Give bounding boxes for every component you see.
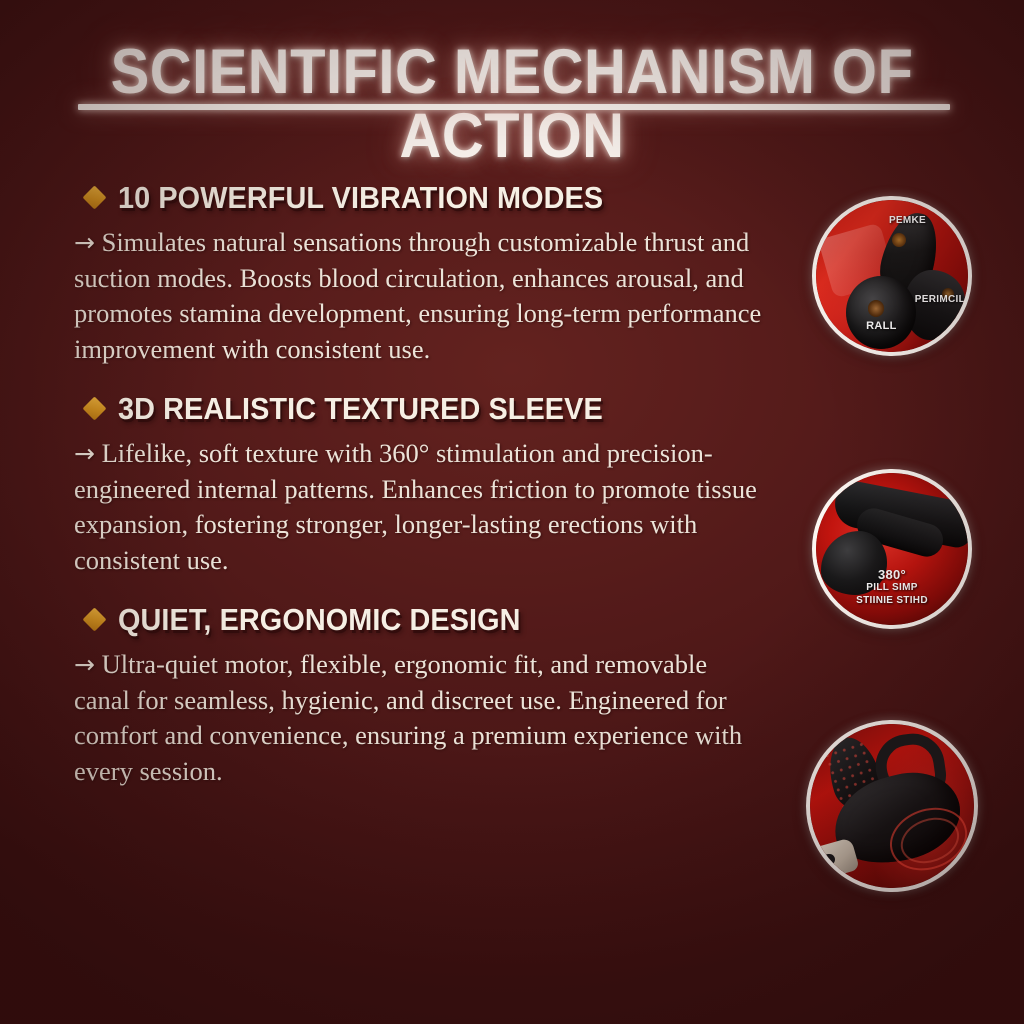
feature-title: 10 POWERFUL VIBRATION MODES [118, 182, 603, 213]
product-photo-textured-sleeve: 380° PILL SIMP STIINIE STIHD [812, 469, 972, 629]
photo-artwork: PEMKE RALL PERIMCIL [816, 200, 968, 352]
feature-item: 3D REALISTIC TEXTURED SLEEVE → Lifelike,… [74, 393, 764, 578]
diamond-icon [82, 185, 106, 209]
diamond-icon [82, 396, 106, 420]
feature-title: 3D REALISTIC TEXTURED SLEEVE [118, 393, 603, 424]
feature-heading: 3D REALISTIC TEXTURED SLEEVE [86, 393, 764, 424]
feature-heading: 10 POWERFUL VIBRATION MODES [86, 182, 764, 213]
product-photo-ergonomic-design [806, 720, 978, 892]
arrow-icon: → [74, 228, 95, 257]
feature-description: → Ultra-quiet motor, flexible, ergonomic… [74, 647, 764, 789]
feature-description: → Lifelike, soft texture with 360° stimu… [74, 436, 764, 578]
photo-shape [892, 233, 906, 247]
photo-artwork [810, 724, 974, 888]
arrow-icon: → [74, 439, 95, 468]
feature-heading: QUIET, ERGONOMIC DESIGN [86, 604, 764, 635]
diamond-icon [82, 607, 106, 631]
feature-title: QUIET, ERGONOMIC DESIGN [118, 604, 521, 635]
photo-label-right: PERIMCIL [915, 294, 965, 305]
photo-shape [823, 854, 834, 865]
photo-label-line3: STIINIE STIHD [816, 595, 968, 606]
photo-label-line2: PILL SIMP [816, 582, 968, 593]
photo-artwork: 380° PILL SIMP STIINIE STIHD [816, 473, 968, 625]
features-list: 10 POWERFUL VIBRATION MODES → Simulates … [74, 182, 764, 789]
title-underline [78, 104, 950, 110]
feature-item: 10 POWERFUL VIBRATION MODES → Simulates … [74, 182, 764, 367]
photo-label-degrees: 380° [816, 567, 968, 582]
photo-label-bottom: RALL [866, 320, 897, 332]
feature-description: → Simulates natural sensations through c… [74, 225, 764, 367]
poster-canvas: SCIENTIFIC MECHANISM OF ACTION 10 POWERF… [0, 0, 1024, 1024]
photo-label-top: PEMKE [889, 215, 926, 226]
feature-description-text: Simulates natural sensations through cus… [74, 227, 761, 364]
feature-item: QUIET, ERGONOMIC DESIGN → Ultra-quiet mo… [74, 604, 764, 789]
feature-description-text: Lifelike, soft texture with 360° stimula… [74, 438, 757, 575]
arrow-icon: → [74, 650, 95, 679]
feature-description-text: Ultra-quiet motor, flexible, ergonomic f… [74, 649, 742, 786]
product-photo-vibration-modes: PEMKE RALL PERIMCIL [812, 196, 972, 356]
